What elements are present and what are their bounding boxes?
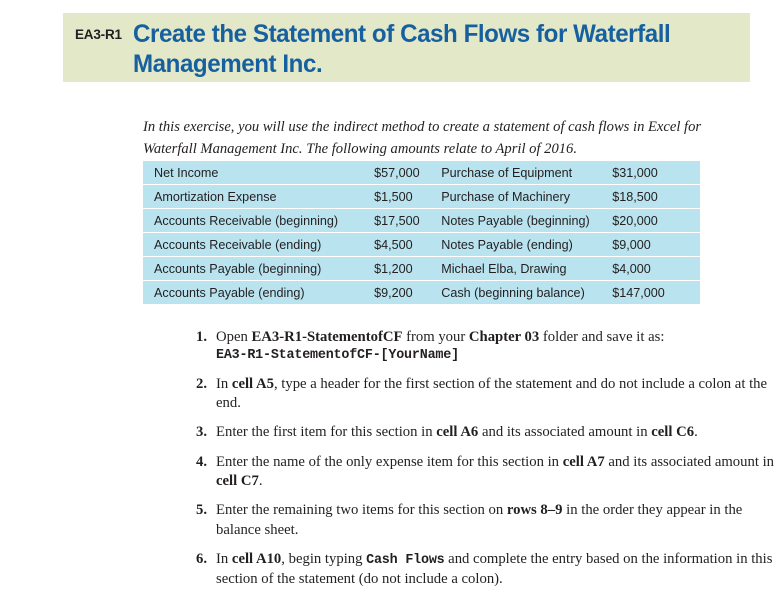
- table-cell-label-right: Cash (beginning balance): [441, 281, 612, 304]
- step-text: Open EA3-R1-StatementofCF from your Chap…: [216, 328, 780, 365]
- instruction-step: 3.Enter the first item for this section …: [188, 423, 780, 442]
- step-text-fragment: Chapter 03: [469, 329, 539, 345]
- step-text-fragment: and its associated amount in: [478, 424, 651, 440]
- amounts-table-body: Net Income$57,000Purchase of Equipment$3…: [143, 161, 700, 304]
- table-row: Accounts Receivable (ending)$4,500Notes …: [143, 233, 700, 256]
- instruction-step: 6.In cell A10, begin typing Cash Flows a…: [188, 550, 780, 589]
- step-text: Enter the remaining two items for this s…: [216, 501, 780, 540]
- table-cell-amount-left: $9,200: [374, 281, 441, 304]
- step-text-fragment: In: [216, 376, 232, 392]
- step-text-fragment: EA3-R1-StatementofCF: [252, 329, 403, 345]
- step-text-fragment: cell A5: [232, 376, 274, 392]
- step-text-fragment: Open: [216, 329, 252, 345]
- step-text: In cell A10, begin typing Cash Flows and…: [216, 550, 780, 589]
- table-cell-amount-left: $1,500: [374, 185, 441, 208]
- table-row: Accounts Receivable (beginning)$17,500No…: [143, 209, 700, 232]
- step-text-fragment: Enter the remaining two items for this s…: [216, 502, 507, 518]
- table-cell-label-left: Accounts Payable (ending): [143, 281, 374, 304]
- table-cell-label-left: Net Income: [143, 161, 374, 184]
- step-text: Enter the name of the only expense item …: [216, 453, 780, 492]
- exercise-intro-paragraph: In this exercise, you will use the indir…: [143, 116, 733, 160]
- step-text-fragment: and its associated amount in: [605, 454, 774, 470]
- table-row: Net Income$57,000Purchase of Equipment$3…: [143, 161, 700, 184]
- step-text-fragment: folder and save it as:: [539, 329, 664, 345]
- step-text-fragment: , type a header for the first section of…: [216, 376, 767, 411]
- table-cell-amount-right: $147,000: [612, 281, 700, 304]
- table-cell-label-right: Notes Payable (beginning): [441, 209, 612, 232]
- step-text-fragment: .: [259, 473, 263, 489]
- instruction-steps-list: 1.Open EA3-R1-StatementofCF from your Ch…: [148, 328, 780, 599]
- amounts-table: Net Income$57,000Purchase of Equipment$3…: [143, 160, 700, 305]
- table-cell-amount-right: $18,500: [612, 185, 700, 208]
- table-cell-label-right: Purchase of Machinery: [441, 185, 612, 208]
- table-cell-amount-right: $4,000: [612, 257, 700, 280]
- table-row: Amortization Expense$1,500Purchase of Ma…: [143, 185, 700, 208]
- table-row: Accounts Payable (ending)$9,200Cash (beg…: [143, 281, 700, 304]
- table-cell-amount-right: $9,000: [612, 233, 700, 256]
- instruction-step: 5.Enter the remaining two items for this…: [188, 501, 780, 540]
- table-cell-label-right: Notes Payable (ending): [441, 233, 612, 256]
- instruction-step: 1.Open EA3-R1-StatementofCF from your Ch…: [188, 328, 780, 365]
- step-text-fragment: rows 8–9: [507, 502, 563, 518]
- step-text-fragment: cell A6: [436, 424, 478, 440]
- step-text-fragment: .: [694, 424, 698, 440]
- step-text-fragment: Cash Flows: [366, 553, 444, 568]
- step-text: Enter the first item for this section in…: [216, 423, 780, 442]
- instruction-step: 4.Enter the name of the only expense ite…: [188, 453, 780, 492]
- table-row: Accounts Payable (beginning)$1,200Michae…: [143, 257, 700, 280]
- step-number: 1.: [188, 328, 216, 347]
- step-number: 5.: [188, 501, 216, 520]
- step-number: 6.: [188, 550, 216, 569]
- step-text-fragment: from your: [402, 329, 469, 345]
- step-number: 3.: [188, 423, 216, 442]
- exercise-header-banner: EA3-R1 Create the Statement of Cash Flow…: [63, 13, 750, 82]
- step-text: In cell A5, type a header for the first …: [216, 375, 780, 414]
- table-cell-label-right: Purchase of Equipment: [441, 161, 612, 184]
- table-cell-label-left: Accounts Payable (beginning): [143, 257, 374, 280]
- step-text-fragment: Enter the first item for this section in: [216, 424, 436, 440]
- step-text-fragment: , begin typing: [281, 551, 366, 567]
- step-text-fragment: In: [216, 551, 232, 567]
- table-cell-amount-left: $17,500: [374, 209, 441, 232]
- step-text-fragment: EA3-R1-StatementofCF-[YourName]: [216, 347, 780, 365]
- table-cell-label-right: Michael Elba, Drawing: [441, 257, 612, 280]
- table-cell-amount-left: $4,500: [374, 233, 441, 256]
- table-cell-label-left: Accounts Receivable (ending): [143, 233, 374, 256]
- step-text-fragment: cell C7: [216, 473, 259, 489]
- step-text-fragment: cell A7: [563, 454, 605, 470]
- table-cell-label-left: Accounts Receivable (beginning): [143, 209, 374, 232]
- table-cell-label-left: Amortization Expense: [143, 185, 374, 208]
- step-text-fragment: Enter the name of the only expense item …: [216, 454, 563, 470]
- page-title: Create the Statement of Cash Flows for W…: [133, 19, 719, 80]
- table-cell-amount-right: $31,000: [612, 161, 700, 184]
- exercise-number-label: EA3-R1: [75, 19, 122, 42]
- step-text-fragment: cell A10: [232, 551, 281, 567]
- step-number: 2.: [188, 375, 216, 394]
- table-cell-amount-left: $57,000: [374, 161, 441, 184]
- table-cell-amount-left: $1,200: [374, 257, 441, 280]
- instruction-step: 2.In cell A5, type a header for the firs…: [188, 375, 780, 414]
- step-text-fragment: cell C6: [651, 424, 694, 440]
- table-cell-amount-right: $20,000: [612, 209, 700, 232]
- step-number: 4.: [188, 453, 216, 472]
